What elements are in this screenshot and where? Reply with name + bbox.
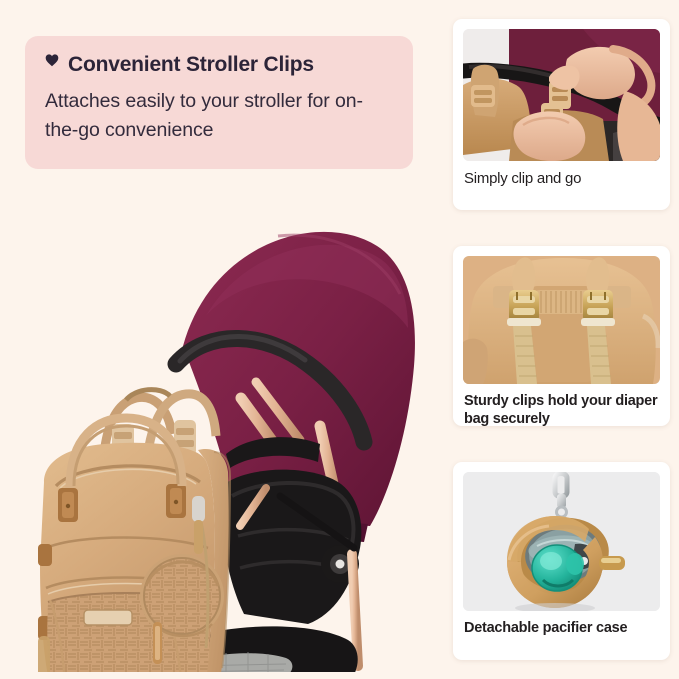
headline-title-row: Convenient Stroller Clips <box>45 52 391 78</box>
clip-left <box>507 290 541 326</box>
card-photo-sturdy-clips <box>463 256 660 384</box>
clip-right <box>581 290 615 326</box>
hero-illustration <box>8 196 440 672</box>
feature-card-simply-clip[interactable]: Simply clip and go <box>453 19 670 210</box>
case-latch <box>599 556 625 570</box>
backpack-clips-illustration <box>463 256 660 384</box>
infographic-page: Convenient Stroller Clips Attaches easil… <box>0 0 679 679</box>
heart-icon <box>45 53 59 79</box>
clip-and-go-illustration <box>463 29 660 161</box>
headline-subtitle: Attaches easily to your stroller for on-… <box>45 87 391 145</box>
card-caption-pacifier-case: Detachable pacifier case <box>453 611 670 638</box>
card-caption-sturdy-clips: Sturdy clips hold your diaper bag secure… <box>453 384 670 426</box>
feature-card-pacifier-case[interactable]: Detachable pacifier case <box>453 462 670 660</box>
hero-product-photo <box>8 196 440 672</box>
feature-card-sturdy-clips[interactable]: Sturdy clips hold your diaper bag secure… <box>453 246 670 426</box>
pacifier-case-illustration <box>463 472 660 611</box>
card-photo-pacifier-case <box>463 472 660 611</box>
headline-title: Convenient Stroller Clips <box>68 52 314 78</box>
headline-callout: Convenient Stroller Clips Attaches easil… <box>25 36 413 169</box>
card-photo-simply-clip <box>463 29 660 161</box>
card-caption-simply-clip: Simply clip and go <box>453 161 670 188</box>
